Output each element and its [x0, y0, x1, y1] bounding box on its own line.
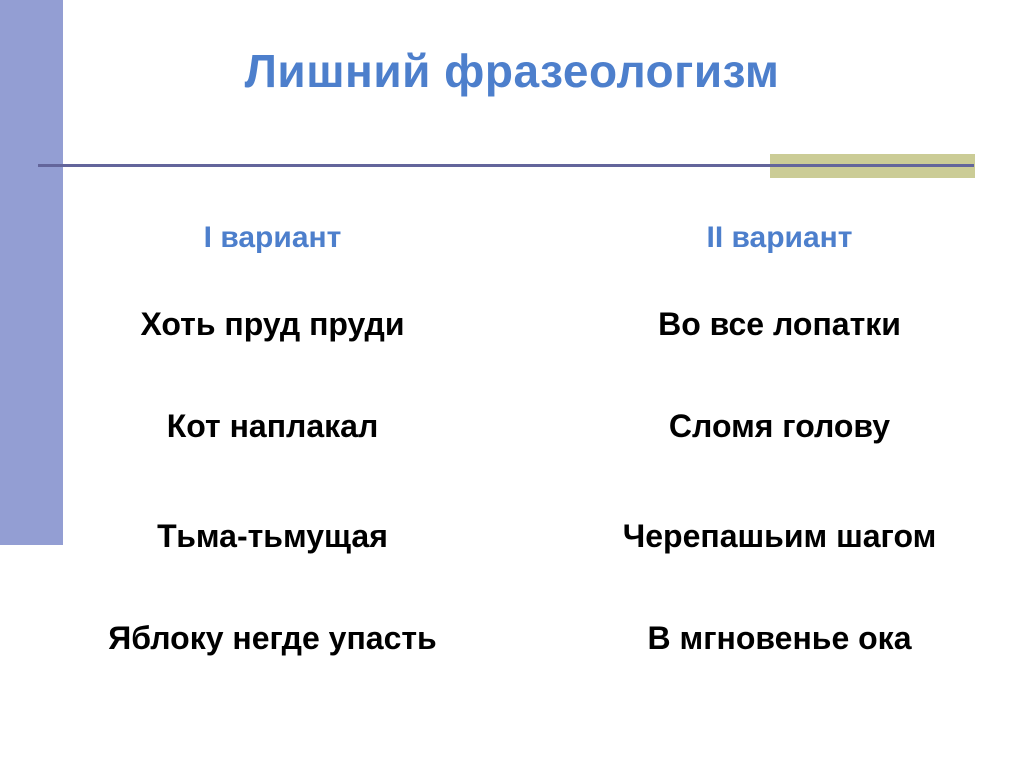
variants-columns: I вариант Хоть пруд пруди Кот наплакал Т… — [0, 218, 1024, 688]
phrase-item: Хоть пруд пруди — [10, 280, 535, 374]
column-variant-1: I вариант Хоть пруд пруди Кот наплакал Т… — [0, 218, 535, 688]
phrase-item: Кот наплакал — [10, 374, 535, 476]
horizontal-rule — [38, 164, 974, 167]
column-heading-variant-2: II вариант — [535, 218, 1024, 280]
slide-title: Лишний фразеологизм — [0, 44, 1024, 98]
slide: Лишний фразеологизм I вариант Хоть пруд … — [0, 0, 1024, 767]
phrase-item: Сломя голову — [535, 374, 1024, 476]
phrase-item: Яблоку негде упасть — [10, 586, 535, 688]
column-heading-variant-1: I вариант — [10, 218, 535, 280]
phrase-item: Во все лопатки — [535, 280, 1024, 374]
phrase-item: В мгновенье ока — [535, 586, 1024, 688]
column-variant-2: II вариант Во все лопатки Сломя голову Ч… — [535, 218, 1024, 688]
phrase-item: Черепашьим шагом — [535, 476, 1024, 586]
phrase-item: Тьма-тьмущая — [10, 476, 535, 586]
